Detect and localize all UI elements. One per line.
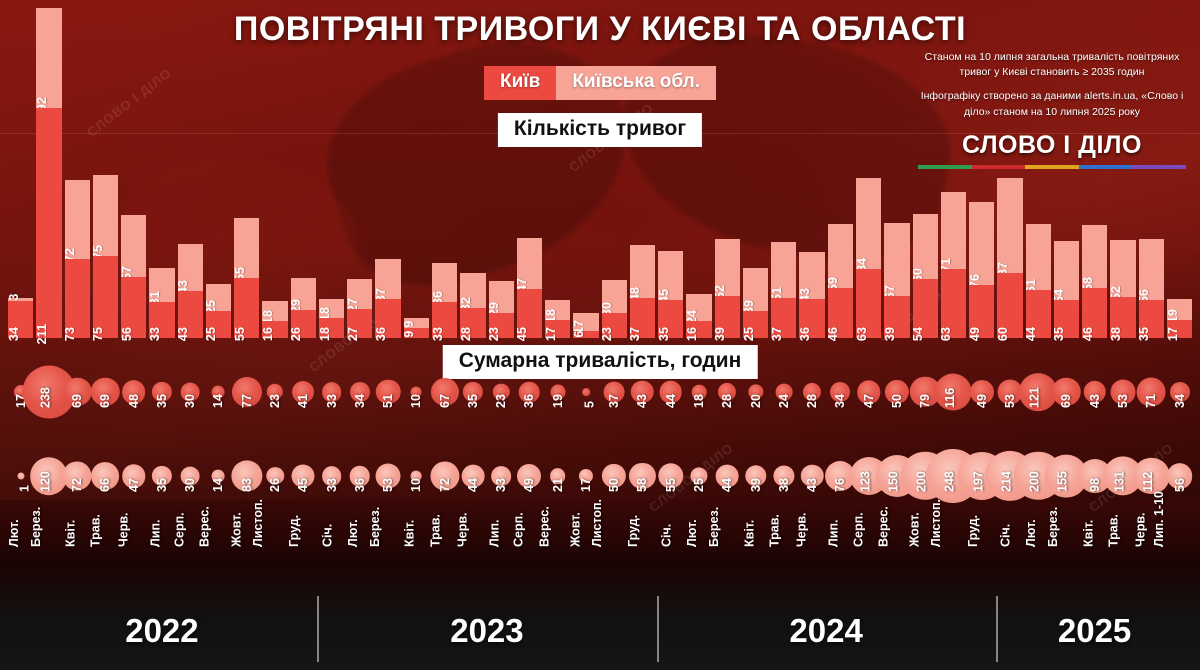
duration-bubble-oblast-value: 41 bbox=[296, 394, 310, 408]
bar-segment-oblast[interactable]: 48 bbox=[630, 245, 655, 297]
bar-value-kyiv: 36 bbox=[798, 327, 812, 341]
bar-segment-kyiv[interactable]: 63 bbox=[856, 269, 881, 338]
duration-bubble-kyiv-value: 14 bbox=[212, 478, 226, 492]
bar-segment-oblast[interactable]: 18 bbox=[319, 299, 344, 319]
bar-segment-oblast[interactable]: 19 bbox=[1167, 299, 1192, 320]
bar-segment-oblast[interactable]: 47 bbox=[517, 238, 542, 289]
month-cell: Трав. bbox=[93, 545, 118, 621]
bubble-cell[interactable]: 5 bbox=[573, 378, 598, 458]
bubble-cell[interactable]: 33 bbox=[319, 378, 344, 458]
month-cell: Квіт. bbox=[65, 545, 90, 621]
month-label: Квіт. bbox=[64, 520, 78, 547]
bar-segment-kyiv[interactable]: 37 bbox=[771, 298, 796, 338]
bar-column[interactable]: 5137 bbox=[771, 8, 796, 338]
bar-column[interactable]: 4336 bbox=[799, 8, 824, 338]
bar-segment-kyiv[interactable]: 36 bbox=[799, 299, 824, 338]
bar-segment-kyiv[interactable]: 46 bbox=[1082, 288, 1107, 338]
bar-segment-kyiv[interactable]: 9 bbox=[404, 328, 429, 338]
bar-column[interactable]: 2525 bbox=[206, 8, 231, 338]
bar-segment-oblast[interactable]: 61 bbox=[1026, 224, 1051, 290]
duration-bubble-oblast-value: 53 bbox=[1116, 394, 1130, 408]
duration-bubble-kyiv-value: 25 bbox=[692, 478, 706, 492]
month-cell: Груд. bbox=[291, 545, 316, 621]
year-divider bbox=[317, 596, 319, 662]
month-label: Листоп. bbox=[929, 499, 943, 547]
month-label: Берез. bbox=[368, 507, 382, 547]
bar-segment-oblast[interactable]: 27 bbox=[347, 279, 372, 308]
bubble-cell[interactable]: 67 bbox=[432, 378, 457, 458]
bar-segment-kyiv[interactable]: 33 bbox=[149, 302, 174, 338]
bubble-cell[interactable]: 36 bbox=[517, 378, 542, 458]
bar-segment-oblast[interactable]: 55 bbox=[234, 218, 259, 278]
duration-bubble-oblast-value: 238 bbox=[38, 387, 52, 408]
month-cell: Листоп. bbox=[262, 545, 287, 621]
bar-column[interactable]: 92211 bbox=[36, 8, 61, 338]
duration-bubble-oblast-value: 36 bbox=[522, 394, 536, 408]
bar-column[interactable]: 1917 bbox=[1167, 8, 1192, 338]
bubble-cell[interactable]: 24 bbox=[771, 378, 796, 458]
bar-column[interactable]: 5946 bbox=[828, 8, 853, 338]
bubble-cell[interactable]: 43 bbox=[1082, 378, 1107, 458]
bubble-cell[interactable]: 19 bbox=[545, 378, 570, 458]
duration-bubble-oblast[interactable] bbox=[582, 388, 590, 396]
bar-segment-kyiv[interactable]: 33 bbox=[432, 302, 457, 338]
duration-bubble-oblast-value: 43 bbox=[1088, 394, 1102, 408]
bubble-cell[interactable]: 238 bbox=[36, 378, 61, 458]
bar-value-kyiv: 46 bbox=[1081, 327, 1095, 341]
duration-bubble-oblast-value: 34 bbox=[833, 394, 847, 408]
bar-segment-kyiv[interactable]: 49 bbox=[969, 285, 994, 338]
month-label: Жовт. bbox=[229, 512, 243, 547]
duration-bubble-kyiv-value: 33 bbox=[494, 478, 508, 492]
duration-bubble-oblast-value: 44 bbox=[664, 394, 678, 408]
duration-bubble-kyiv-value: 26 bbox=[268, 478, 282, 492]
bar-segment-oblast[interactable]: 76 bbox=[969, 202, 994, 285]
bar-segment-kyiv[interactable]: 23 bbox=[602, 313, 627, 338]
duration-bubble-oblast-value: 35 bbox=[466, 394, 480, 408]
bar-value-kyiv: 54 bbox=[911, 327, 925, 341]
duration-bubble-kyiv-value: 44 bbox=[720, 478, 734, 492]
duration-bubble-oblast-value: 69 bbox=[98, 394, 112, 408]
bar-column[interactable]: 6739 bbox=[884, 8, 909, 338]
month-cell: Листоп. bbox=[941, 545, 966, 621]
duration-bubble-oblast-value: 23 bbox=[268, 394, 282, 408]
bar-column[interactable]: 3736 bbox=[375, 8, 400, 338]
bar-segment-oblast[interactable]: 56 bbox=[1139, 239, 1164, 300]
bar-segment-kyiv[interactable]: 28 bbox=[460, 308, 485, 338]
bar-segment-kyiv[interactable]: 44 bbox=[1026, 290, 1051, 338]
bar-column[interactable]: 99 bbox=[404, 8, 429, 338]
bar-value-kyiv: 63 bbox=[939, 327, 953, 341]
bubble-cell[interactable]: 44 bbox=[658, 378, 683, 458]
bar-segment-oblast[interactable]: 29 bbox=[489, 281, 514, 313]
month-label: Берез. bbox=[707, 507, 721, 547]
month-label: Груд. bbox=[966, 515, 980, 547]
month-label: Листоп. bbox=[251, 499, 265, 547]
bar-segment-kyiv[interactable]: 60 bbox=[997, 273, 1022, 338]
bubble-cell[interactable]: 69 bbox=[1054, 378, 1079, 458]
month-label: Черв. bbox=[795, 512, 809, 547]
duration-bubble-kyiv-value: 17 bbox=[579, 478, 593, 492]
month-label: Квіт. bbox=[1081, 520, 1095, 547]
bar-value-kyiv: 36 bbox=[374, 327, 388, 341]
bubble-cell[interactable]: 116 bbox=[941, 378, 966, 458]
bubble-cell[interactable]: 50 bbox=[602, 462, 627, 542]
duration-bubble-oblast-value: 77 bbox=[240, 394, 254, 408]
bar-column[interactable]: 5555 bbox=[234, 8, 259, 338]
bar-segment-oblast[interactable]: 29 bbox=[291, 278, 316, 310]
bar-segment-kyiv[interactable]: 39 bbox=[884, 296, 909, 338]
duration-bubble-kyiv-value: 150 bbox=[886, 471, 900, 492]
bar-segment-oblast[interactable]: 92 bbox=[36, 8, 61, 108]
month-label: Серп. bbox=[851, 512, 865, 547]
bar-segment-oblast[interactable]: 52 bbox=[1110, 240, 1135, 297]
bubble-cell[interactable]: 53 bbox=[1110, 378, 1135, 458]
bar-segment-kyiv[interactable]: 34 bbox=[8, 301, 33, 338]
month-label: Верес. bbox=[876, 506, 890, 547]
bar-segment-oblast[interactable]: 67 bbox=[884, 223, 909, 296]
bar-value-kyiv: 46 bbox=[826, 327, 840, 341]
month-cell: Черв. bbox=[1139, 545, 1164, 621]
bar-segment-oblast[interactable]: 51 bbox=[771, 242, 796, 298]
bar-segment-oblast[interactable]: 72 bbox=[65, 180, 90, 258]
bar-segment-oblast[interactable]: 59 bbox=[828, 224, 853, 288]
bar-value-kyiv: 25 bbox=[204, 327, 218, 341]
bubble-cell[interactable]: 69 bbox=[93, 378, 118, 458]
duration-bubble-oblast-value: 10 bbox=[409, 394, 423, 408]
bar-value-oblast: 9 bbox=[402, 321, 416, 328]
bar-segment-oblast[interactable]: 39 bbox=[743, 268, 768, 310]
bar-column[interactable]: 4837 bbox=[630, 8, 655, 338]
bar-segment-oblast[interactable]: 57 bbox=[121, 215, 146, 277]
month-cell: Квіт. bbox=[1082, 545, 1107, 621]
bar-column[interactable]: 2727 bbox=[347, 8, 372, 338]
bar-segment-oblast[interactable]: 17 bbox=[573, 313, 598, 332]
bar-value-kyiv: 18 bbox=[318, 327, 332, 341]
bar-column[interactable]: 5238 bbox=[1110, 8, 1135, 338]
duration-bubbles-oblast: 1723869694835301477234133345110673523361… bbox=[8, 378, 1192, 458]
bar-segment-kyiv[interactable]: 63 bbox=[941, 269, 966, 338]
bubble-cell[interactable]: 71 bbox=[1139, 378, 1164, 458]
duration-bubble-kyiv[interactable] bbox=[17, 473, 24, 480]
month-cell: Листоп. bbox=[602, 545, 627, 621]
bubble-cell[interactable]: 35 bbox=[149, 378, 174, 458]
duration-bubble-kyiv-value: 38 bbox=[777, 478, 791, 492]
bar-segment-kyiv[interactable]: 45 bbox=[517, 289, 542, 338]
duration-bubble-kyiv-value: 56 bbox=[1173, 478, 1187, 492]
bar-segment-kyiv[interactable]: 25 bbox=[206, 311, 231, 338]
bar-column[interactable]: 8463 bbox=[856, 8, 881, 338]
bar-segment-kyiv[interactable]: 38 bbox=[1110, 297, 1135, 338]
bar-column[interactable]: 3228 bbox=[460, 8, 485, 338]
duration-bubble-kyiv-value: 30 bbox=[183, 478, 197, 492]
bar-segment-kyiv[interactable]: 56 bbox=[121, 277, 146, 338]
bar-value-kyiv: 35 bbox=[1137, 327, 1151, 341]
bar-column[interactable]: 334 bbox=[8, 8, 33, 338]
bar-segment-kyiv[interactable]: 46 bbox=[828, 288, 853, 338]
bubble-cell[interactable]: 50 bbox=[884, 378, 909, 458]
bar-segment-oblast[interactable]: 37 bbox=[375, 259, 400, 299]
bar-segment-kyiv[interactable]: 17 bbox=[545, 320, 570, 339]
month-cell: Груд. bbox=[969, 545, 994, 621]
bar-segment-kyiv[interactable]: 75 bbox=[93, 256, 118, 338]
bubble-cell[interactable]: 77 bbox=[234, 378, 259, 458]
bubble-cell[interactable]: 26 bbox=[262, 462, 287, 542]
bubble-cell[interactable]: 121 bbox=[1026, 378, 1051, 458]
month-axis: Лют.Берез.Квіт.Трав.Черв.Лип.Серп.Верес.… bbox=[8, 545, 1192, 621]
bar-value-kyiv: 25 bbox=[742, 327, 756, 341]
month-cell: Квіт. bbox=[743, 545, 768, 621]
bubble-cell[interactable]: 34 bbox=[347, 378, 372, 458]
bubble-cell[interactable]: 34 bbox=[828, 378, 853, 458]
duration-bubble-kyiv-value: 1 bbox=[17, 485, 31, 492]
bar-segment-oblast[interactable]: 18 bbox=[262, 301, 287, 321]
bar-value-kyiv: 39 bbox=[713, 327, 727, 341]
bubble-cell[interactable]: 51 bbox=[375, 378, 400, 458]
duration-bubble-oblast-value: 33 bbox=[325, 394, 339, 408]
bubble-cell[interactable]: 41 bbox=[291, 378, 316, 458]
bar-segment-kyiv[interactable]: 35 bbox=[658, 300, 683, 338]
bar-value-kyiv: 56 bbox=[120, 327, 134, 341]
bubble-cell[interactable]: 35 bbox=[460, 378, 485, 458]
bar-value-kyiv: 34 bbox=[7, 327, 21, 341]
bar-segment-oblast[interactable]: 58 bbox=[1082, 225, 1107, 288]
bar-value-kyiv: 43 bbox=[176, 327, 190, 341]
bar-column[interactable]: 5435 bbox=[1054, 8, 1079, 338]
bar-segment-kyiv[interactable]: 26 bbox=[291, 310, 316, 338]
duration-bubble-oblast-value: 28 bbox=[805, 394, 819, 408]
bar-segment-kyiv[interactable]: 18 bbox=[319, 318, 344, 338]
bar-column[interactable]: 2923 bbox=[489, 8, 514, 338]
bar-segment-oblast[interactable]: 31 bbox=[149, 268, 174, 302]
bar-value-kyiv: 16 bbox=[261, 327, 275, 341]
month-cell: Трав. bbox=[771, 545, 796, 621]
duration-bubble-kyiv-value: 83 bbox=[240, 478, 254, 492]
duration-bubble-oblast-value: 49 bbox=[975, 394, 989, 408]
year-divider bbox=[996, 596, 998, 662]
bubble-cell[interactable]: 30 bbox=[178, 378, 203, 458]
duration-bubble-oblast-value: 30 bbox=[183, 394, 197, 408]
bar-value-kyiv: 75 bbox=[91, 327, 105, 341]
bar-value-kyiv: 6 bbox=[572, 330, 586, 337]
bar-segment-oblast[interactable]: 71 bbox=[941, 192, 966, 269]
bar-segment-oblast[interactable]: 45 bbox=[658, 251, 683, 300]
month-cell: Серп. bbox=[517, 545, 542, 621]
bar-column[interactable]: 7273 bbox=[65, 8, 90, 338]
bar-segment-oblast[interactable]: 24 bbox=[686, 294, 711, 320]
bar-column[interactable]: 3023 bbox=[602, 8, 627, 338]
bar-value-kyiv: 28 bbox=[459, 327, 473, 341]
bar-column[interactable]: 7163 bbox=[941, 8, 966, 338]
bar-column[interactable]: 5756 bbox=[121, 8, 146, 338]
bar-column[interactable]: 5239 bbox=[715, 8, 740, 338]
bubble-cell[interactable]: 23 bbox=[489, 378, 514, 458]
duration-bubble-oblast-value: 5 bbox=[582, 401, 596, 408]
bar-column[interactable]: 3925 bbox=[743, 8, 768, 338]
bar-segment-oblast[interactable]: 60 bbox=[913, 214, 938, 279]
duration-bubble-oblast-value: 34 bbox=[1173, 394, 1187, 408]
duration-bubble-kyiv-value: 123 bbox=[858, 471, 872, 492]
bar-column[interactable]: 176 bbox=[573, 8, 598, 338]
bar-segment-kyiv[interactable]: 17 bbox=[1167, 320, 1192, 339]
month-cell: Трав. bbox=[432, 545, 457, 621]
bar-segment-kyiv[interactable]: 73 bbox=[65, 259, 90, 339]
bar-column[interactable]: 7575 bbox=[93, 8, 118, 338]
month-cell: Січ. bbox=[319, 545, 344, 621]
bubble-cell[interactable]: 23 bbox=[262, 378, 287, 458]
duration-bubble-kyiv-value: 44 bbox=[466, 478, 480, 492]
duration-bubble-kyiv-value: 35 bbox=[155, 478, 169, 492]
month-label: Серп. bbox=[512, 512, 526, 547]
bar-segment-kyiv[interactable]: 27 bbox=[347, 309, 372, 338]
duration-bubble-kyiv-value: 131 bbox=[1113, 471, 1127, 492]
month-cell: Жовт. bbox=[913, 545, 938, 621]
bar-column[interactable]: 4745 bbox=[517, 8, 542, 338]
bar-column[interactable]: 4535 bbox=[658, 8, 683, 338]
year-label: 2024 bbox=[789, 612, 862, 650]
duration-bubble-kyiv-value: 66 bbox=[98, 478, 112, 492]
month-label: Верес. bbox=[537, 506, 551, 547]
month-cell: Лют. bbox=[8, 545, 33, 621]
duration-bubble-kyiv-value: 36 bbox=[353, 478, 367, 492]
bar-segment-oblast[interactable]: 18 bbox=[545, 300, 570, 320]
duration-bubble-oblast-value: 37 bbox=[607, 394, 621, 408]
bar-segment-oblast[interactable]: 25 bbox=[206, 284, 231, 311]
bubble-cell[interactable]: 56 bbox=[1167, 462, 1192, 542]
bar-column[interactable]: 3133 bbox=[149, 8, 174, 338]
year-label: 2023 bbox=[450, 612, 523, 650]
duration-bubble-kyiv-value: 55 bbox=[664, 478, 678, 492]
bar-value-kyiv: 49 bbox=[968, 327, 982, 341]
bar-value-kyiv: 35 bbox=[657, 327, 671, 341]
bubble-cell[interactable]: 47 bbox=[856, 378, 881, 458]
bar-value-kyiv: 17 bbox=[1166, 327, 1180, 341]
bar-column[interactable]: 2416 bbox=[686, 8, 711, 338]
bar-column[interactable]: 6144 bbox=[1026, 8, 1051, 338]
bar-segment-oblast[interactable]: 9 bbox=[404, 318, 429, 328]
bubble-cell[interactable]: 14 bbox=[206, 378, 231, 458]
bar-segment-kyiv[interactable]: 35 bbox=[1139, 300, 1164, 338]
bar-segment-kyiv[interactable]: 23 bbox=[489, 313, 514, 338]
year-label: 2022 bbox=[125, 612, 198, 650]
month-label: Лют. bbox=[1024, 519, 1038, 547]
bar-segment-oblast[interactable]: 32 bbox=[460, 273, 485, 308]
month-label: Груд. bbox=[287, 515, 301, 547]
bubble-cell[interactable]: 20 bbox=[743, 378, 768, 458]
bar-column[interactable]: 7649 bbox=[969, 8, 994, 338]
bubble-cell[interactable]: 69 bbox=[65, 378, 90, 458]
bubble-cell[interactable]: 48 bbox=[121, 378, 146, 458]
bar-column[interactable]: 5846 bbox=[1082, 8, 1107, 338]
bar-column[interactable]: 2926 bbox=[291, 8, 316, 338]
duration-bubble-kyiv-value: 49 bbox=[522, 478, 536, 492]
bar-segment-kyiv[interactable]: 55 bbox=[234, 278, 259, 338]
bubble-cell[interactable]: 28 bbox=[799, 378, 824, 458]
duration-bubble-kyiv-value: 53 bbox=[381, 478, 395, 492]
bar-segment-oblast[interactable]: 87 bbox=[997, 178, 1022, 273]
bar-segment-kyiv[interactable]: 25 bbox=[743, 311, 768, 338]
bar-value-kyiv: 73 bbox=[63, 327, 77, 341]
bar-value-kyiv: 44 bbox=[1024, 327, 1038, 341]
bubble-cell[interactable]: 10 bbox=[404, 378, 429, 458]
duration-bubble-kyiv-value: 76 bbox=[833, 478, 847, 492]
duration-bubble-oblast-value: 67 bbox=[438, 394, 452, 408]
bar-column[interactable]: 4343 bbox=[178, 8, 203, 338]
bar-segment-kyiv[interactable]: 6 bbox=[573, 331, 598, 338]
bar-column[interactable]: 6054 bbox=[913, 8, 938, 338]
bar-segment-oblast[interactable]: 54 bbox=[1054, 241, 1079, 300]
bar-value-kyiv: 37 bbox=[770, 327, 784, 341]
month-cell: Лип. 1-10 bbox=[1167, 545, 1192, 621]
month-label: Січ. bbox=[659, 524, 673, 547]
month-cell: Серп. bbox=[178, 545, 203, 621]
bar-column[interactable]: 5635 bbox=[1139, 8, 1164, 338]
bar-segment-kyiv[interactable]: 16 bbox=[262, 321, 287, 338]
month-cell: Жовт. bbox=[234, 545, 259, 621]
bar-segment-kyiv[interactable]: 211 bbox=[36, 108, 61, 338]
month-label: Берез. bbox=[1046, 507, 1060, 547]
duration-bubble-oblast-value: 116 bbox=[943, 388, 957, 408]
bar-segment-kyiv[interactable]: 35 bbox=[1054, 300, 1079, 338]
bar-segment-oblast[interactable]: 36 bbox=[432, 263, 457, 302]
bar-segment-oblast[interactable]: 52 bbox=[715, 239, 740, 296]
duration-bubble-kyiv-value: 214 bbox=[999, 471, 1013, 492]
month-cell: Черв. bbox=[460, 545, 485, 621]
bubble-cell[interactable]: 18 bbox=[686, 378, 711, 458]
bar-column[interactable]: 1816 bbox=[262, 8, 287, 338]
bar-segment-kyiv[interactable]: 43 bbox=[178, 291, 203, 338]
month-cell: Берез. bbox=[36, 545, 61, 621]
bar-column[interactable]: 1817 bbox=[545, 8, 570, 338]
duration-bubble-kyiv-value: 58 bbox=[636, 478, 650, 492]
bar-segment-kyiv[interactable]: 16 bbox=[686, 321, 711, 338]
bar-value-kyiv: 39 bbox=[883, 327, 897, 341]
bubble-cell[interactable]: 34 bbox=[1167, 378, 1192, 458]
month-cell: Жовт. bbox=[573, 545, 598, 621]
bar-segment-kyiv[interactable]: 36 bbox=[375, 299, 400, 338]
month-cell: Квіт. bbox=[404, 545, 429, 621]
bar-segment-oblast[interactable]: 43 bbox=[178, 244, 203, 291]
bar-value-kyiv: 211 bbox=[35, 324, 49, 345]
bar-segment-oblast[interactable]: 84 bbox=[856, 178, 881, 269]
bar-segment-oblast[interactable]: 43 bbox=[799, 252, 824, 299]
bar-segment-kyiv[interactable]: 37 bbox=[630, 298, 655, 338]
bar-column[interactable]: 3633 bbox=[432, 8, 457, 338]
bubble-cell[interactable]: 49 bbox=[969, 378, 994, 458]
bar-value-kyiv: 17 bbox=[544, 327, 558, 341]
bar-segment-oblast[interactable]: 75 bbox=[93, 175, 118, 257]
month-label: Черв. bbox=[116, 512, 130, 547]
duration-bubble-oblast-value: 20 bbox=[749, 394, 763, 408]
bubble-cell[interactable]: 43 bbox=[630, 378, 655, 458]
bar-segment-oblast[interactable]: 30 bbox=[602, 280, 627, 313]
bar-value-kyiv: 63 bbox=[855, 327, 869, 341]
bar-column[interactable]: 1818 bbox=[319, 8, 344, 338]
bar-segment-kyiv[interactable]: 54 bbox=[913, 279, 938, 338]
bar-column[interactable]: 8760 bbox=[997, 8, 1022, 338]
month-label: Серп. bbox=[173, 512, 187, 547]
month-label: Лип. 1-10 bbox=[1152, 491, 1166, 547]
month-cell: Січ. bbox=[997, 545, 1022, 621]
month-label: Січ. bbox=[998, 524, 1012, 547]
duration-bubble-oblast-value: 23 bbox=[494, 394, 508, 408]
month-label: Лют. bbox=[346, 519, 360, 547]
bar-segment-kyiv[interactable]: 39 bbox=[715, 296, 740, 338]
month-label: Січ. bbox=[320, 524, 334, 547]
bubble-cell[interactable]: 28 bbox=[715, 378, 740, 458]
month-label: Трав. bbox=[767, 514, 781, 547]
bubble-cell[interactable]: 37 bbox=[602, 378, 627, 458]
